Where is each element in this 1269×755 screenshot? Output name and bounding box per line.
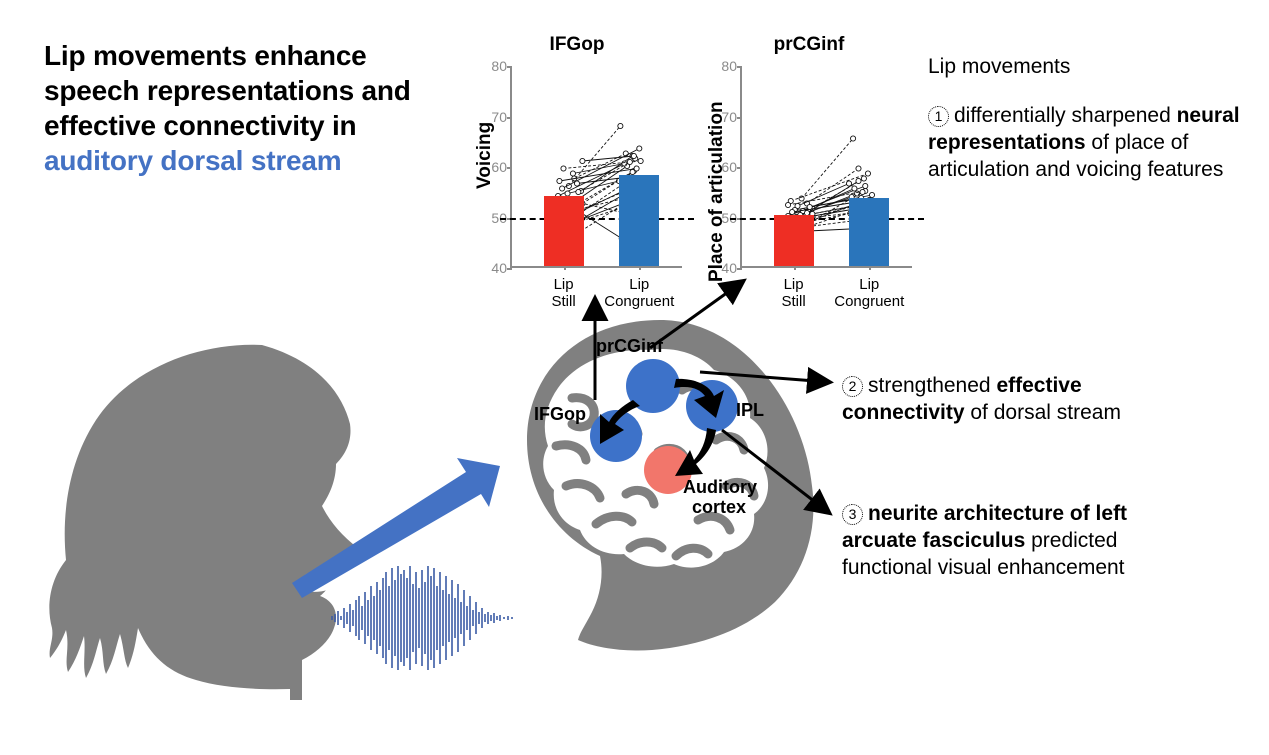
- illustration-layer: [0, 0, 1269, 755]
- brain-label-ipl: IPL: [736, 400, 764, 421]
- brain-label-auditory-cortex-line2: cortex: [692, 497, 746, 518]
- speaker-head-silhouette: [49, 345, 358, 700]
- speech-waveform-icon: [332, 566, 512, 670]
- brain-label-auditory-cortex-line1: Auditory: [683, 477, 757, 498]
- brain-label-ifgop: IFGop: [534, 404, 586, 425]
- brain-label-prcginf: prCGinf: [596, 336, 663, 357]
